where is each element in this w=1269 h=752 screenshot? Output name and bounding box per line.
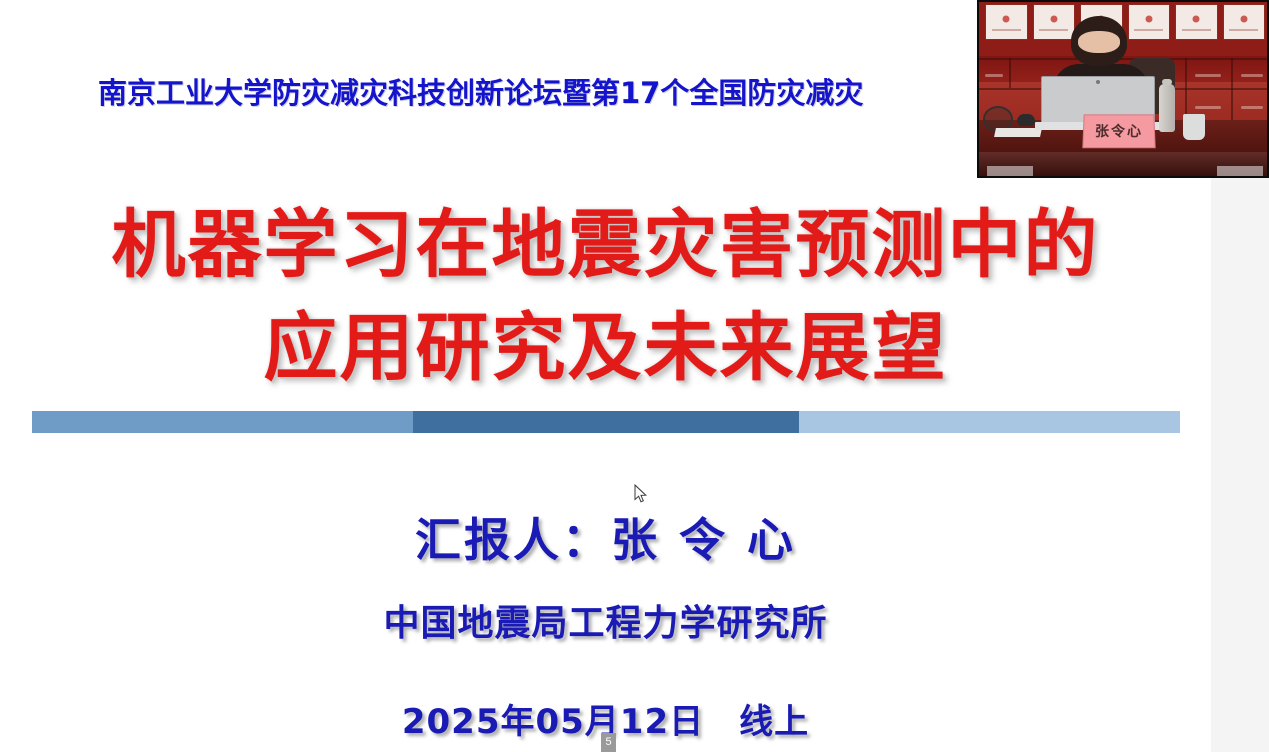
laptop-camera-icon [1096, 80, 1100, 84]
certificate-frame [985, 4, 1028, 40]
presentation-screen: 南京工业大学防灾减灾科技创新论坛暨第17个全国防灾减灾 机器学习在地震灾害预测中… [0, 0, 1269, 752]
cabinet-divider [1009, 58, 1011, 88]
presenter-nameplate: 张令心 [1082, 114, 1155, 148]
divider-segment-middle [413, 411, 799, 433]
slide-title-line-2: 应用研究及未来展望 [0, 306, 1211, 390]
slide-header-text: 南京工业大学防灾减灾科技创新论坛暨第17个全国防灾减灾 [98, 72, 1028, 114]
affiliation-line: 中国地震局工程力学研究所 [0, 601, 1211, 647]
desk-paper [987, 166, 1033, 178]
certificate-frame [1175, 4, 1218, 40]
presenter-line: 汇报人：张 令 心 [0, 511, 1211, 569]
tea-cup [1183, 114, 1205, 140]
slide-title-line-1: 机器学习在地震灾害预测中的 [0, 203, 1211, 287]
wall-panel-line [979, 58, 1269, 60]
presenter-video-overlay[interactable]: 张令心 [977, 0, 1269, 178]
decorative-divider-bar [32, 411, 1180, 433]
cabinet-handle [1241, 74, 1263, 77]
cabinet-handle [985, 74, 1003, 77]
cabinet-handle [1241, 106, 1263, 109]
cabinet-divider [1231, 58, 1233, 124]
certificate-frame [1223, 4, 1266, 40]
divider-segment-left [32, 411, 413, 433]
certificate-frame [1128, 4, 1171, 40]
arrow-pointer-icon [634, 484, 648, 504]
video-scene: 张令心 [979, 2, 1267, 176]
presenter-head [1071, 16, 1127, 66]
cabinet-handle [1195, 74, 1221, 77]
cabinet-handle [1195, 106, 1221, 109]
desk-paper [1217, 166, 1263, 178]
certificate-frame [1033, 4, 1076, 40]
computer-mouse [1017, 114, 1035, 126]
page-number-badge: 5 [601, 733, 616, 752]
thermos-bottle [1159, 84, 1175, 132]
divider-segment-right [799, 411, 1180, 433]
